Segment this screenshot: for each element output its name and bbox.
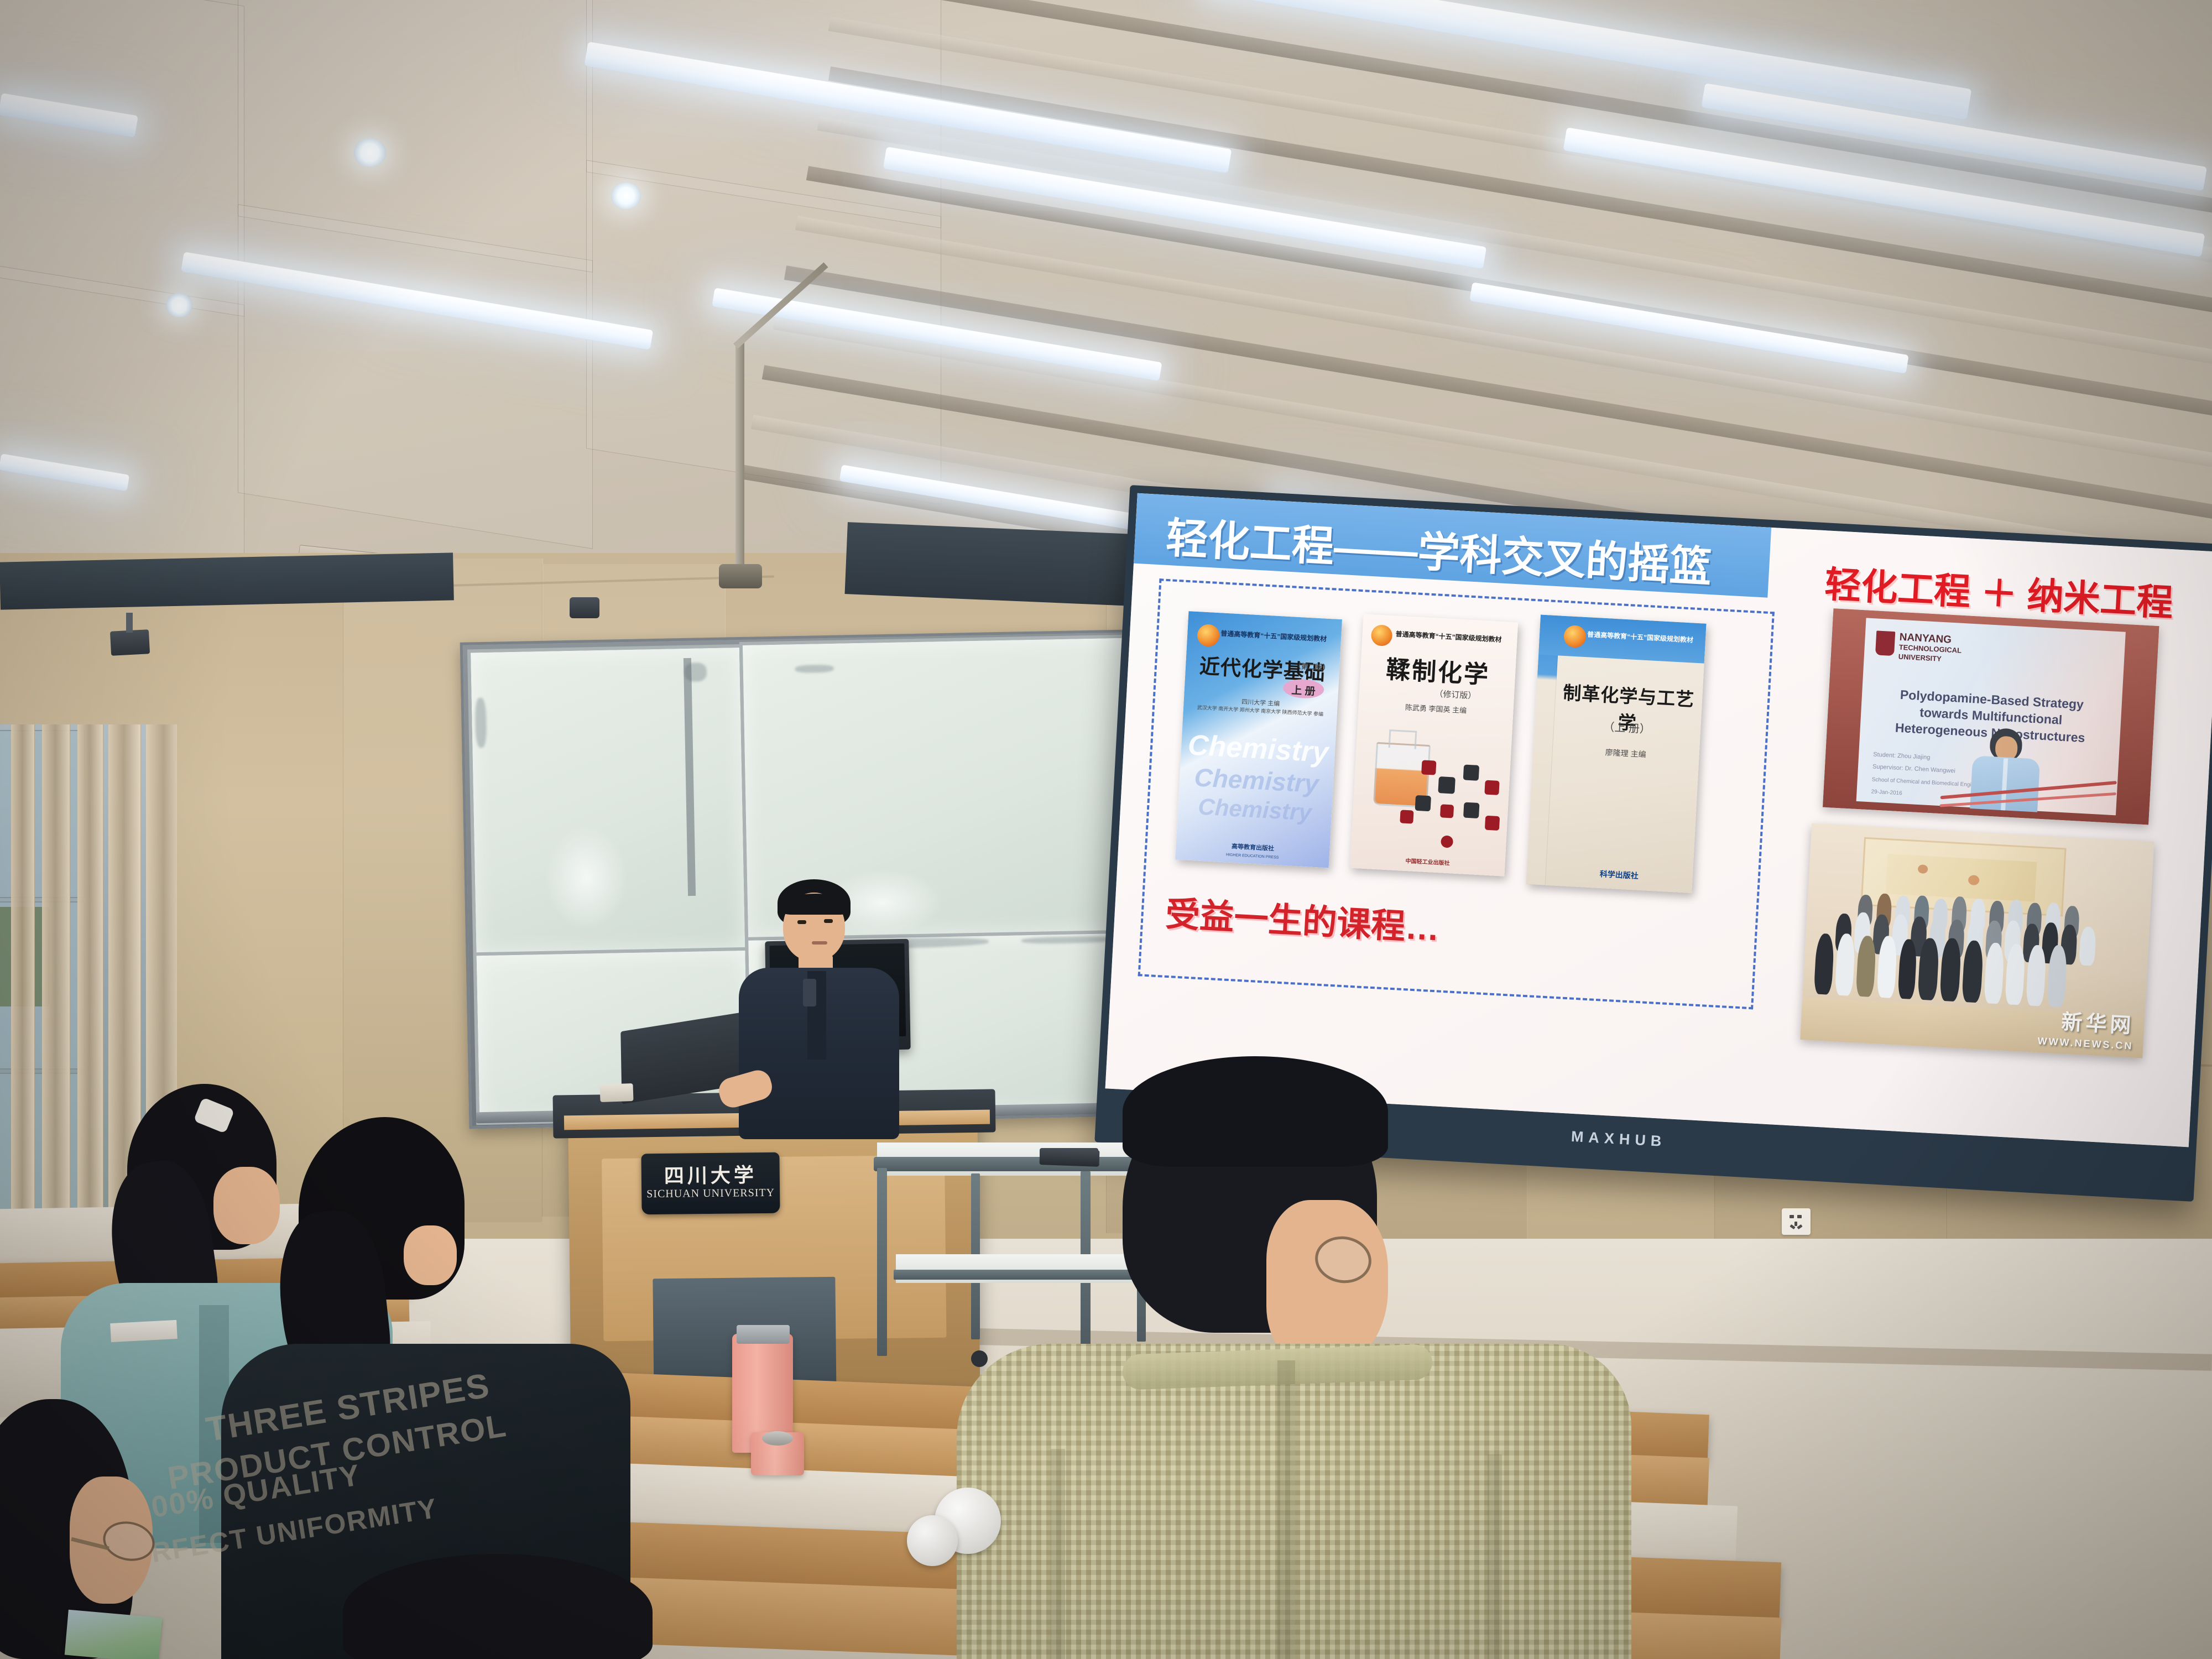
ntu-presentation-photo: NANYANG TECHNOLOGICAL UNIVERSITY Polydop… [1823,608,2159,825]
open-book [65,1610,162,1659]
paper-sheet [110,1320,178,1342]
audience-hair [343,1554,653,1659]
headphones [907,1515,958,1566]
phone-on-cart[interactable] [1040,1148,1100,1167]
presentation-slide: 轻化工程——学科交叉的摇篮 普通高等教育“十五”国家级规划教材 近代化学基础 （… [1105,493,2212,1147]
recessed-downlight [611,182,641,209]
lecture-hall-photo: 轻化工程——学科交叉的摇篮 普通高等教育“十五”国家级规划教材 近代化学基础 （… [0,0,2212,1659]
wall-camera [110,629,150,656]
recessed-downlight [166,293,192,317]
group-photo: 新华网 WWW.NEWS.CN [1800,823,2154,1058]
wall-speaker [570,597,599,618]
book-cover-1: 普通高等教育“十五”国家级规划教材 近代化学基础 （第二版） 上 册 四川大学 … [1175,611,1342,868]
plaque-title-en: SICHUAN UNIVERSITY [641,1187,780,1201]
ceiling [0,0,2212,597]
presenter [719,879,918,1139]
recessed-downlight [354,138,386,167]
display-screen[interactable]: 轻化工程——学科交叉的摇篮 普通高等教育“十五”国家级规划教材 近代化学基础 （… [1105,493,2212,1147]
audience-member-bottom-center [343,1537,697,1659]
ntu-shield-icon [1875,630,1895,656]
wall-outlet[interactable] [1782,1208,1811,1235]
projector-mount-rod [735,343,744,575]
book-cover-3: 普通高等教育“十五”国家级规划教材 制革化学与工艺学 （上 册） 廖隆理 主编 … [1526,615,1707,894]
audience-member-front-left [0,1394,254,1659]
thermos-neck [737,1325,790,1344]
watermark-text-cn: 新华网 [2060,1005,2135,1039]
book-cover-2: 普通高等教育“十五”国家级规划教材 鞣制化学 （修订版） 陈武勇 李国英 主编 [1350,614,1518,876]
plaque-title-cn: 四川大学 [641,1159,780,1190]
institution-plaque: 四川大学 SICHUAN UNIVERSITY [641,1152,780,1215]
